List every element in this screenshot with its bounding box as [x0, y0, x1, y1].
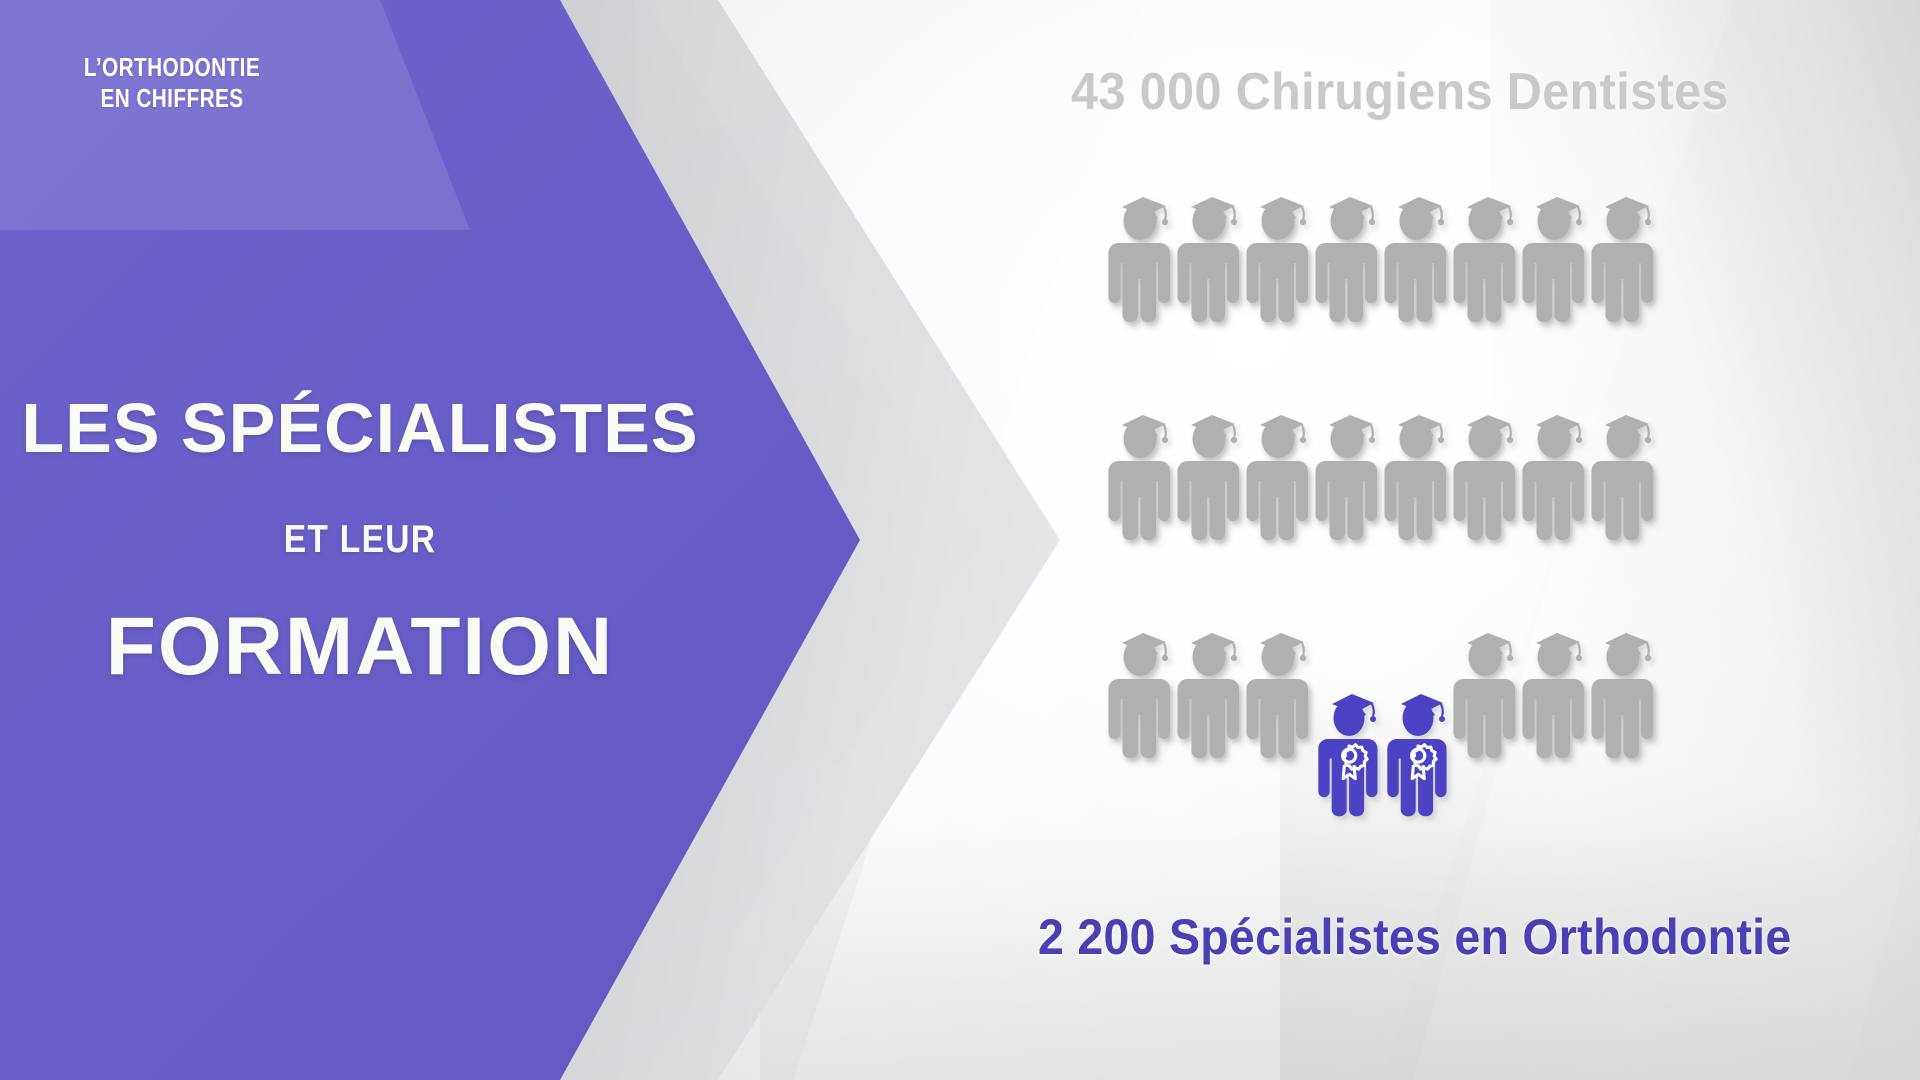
specialist-figure-icon	[1390, 683, 1452, 861]
dentist-figure-icon	[1593, 185, 1661, 365]
specialists-total-caption: 2 200 Spécialistes en Orthodontie	[1038, 908, 1782, 966]
dentist-figure-icon	[1593, 403, 1661, 583]
pictogram-figure-grid	[1110, 185, 1650, 875]
pictogram-row-3	[1110, 621, 1650, 801]
infographic-canvas: L’ORTHODONTIE EN CHIFFRES LES SPÉCIALIST…	[0, 0, 1920, 1080]
title-subject: FORMATION	[0, 600, 720, 694]
dentist-figure-icon	[1179, 403, 1247, 583]
dentist-figure-icon	[1110, 403, 1178, 583]
dentist-figure-icon	[1248, 403, 1316, 583]
dentist-figure-icon	[1455, 403, 1523, 583]
dentist-figure-icon	[1110, 621, 1178, 801]
dentist-figure-icon	[1248, 621, 1316, 801]
dentist-figure-icon	[1524, 185, 1592, 365]
dentist-figure-icon	[1386, 185, 1454, 365]
dentist-figure-icon	[1524, 403, 1592, 583]
title-connector: ET LEUR	[50, 518, 669, 562]
eyebrow-label: L’ORTHODONTIE EN CHIFFRES	[40, 52, 304, 113]
dentist-figure-icon	[1386, 403, 1454, 583]
dentist-figure-icon	[1524, 621, 1592, 801]
dentist-figure-icon	[1593, 621, 1661, 801]
dentist-figure-icon	[1455, 621, 1523, 801]
specialist-figure-icon	[1321, 683, 1383, 861]
eyebrow-line-1: L’ORTHODONTIE	[40, 52, 304, 83]
dentist-figure-icon	[1455, 185, 1523, 365]
dentists-total-caption: 43 000 Chirugiens Dentistes	[1047, 62, 1754, 122]
dentist-figure-icon	[1110, 185, 1178, 365]
pictogram-row-2	[1110, 403, 1650, 583]
chevron-highlight-wedge	[0, 0, 470, 230]
eyebrow-line-2: EN CHIFFRES	[40, 83, 304, 114]
dentist-figure-icon	[1248, 185, 1316, 365]
page-title: LES SPÉCIALISTES	[0, 388, 720, 468]
pictogram-row-1	[1110, 185, 1650, 365]
dentist-figure-icon	[1179, 185, 1247, 365]
dentist-figure-icon	[1179, 621, 1247, 801]
dentist-figure-icon	[1317, 185, 1385, 365]
dentist-figure-icon	[1317, 403, 1385, 583]
